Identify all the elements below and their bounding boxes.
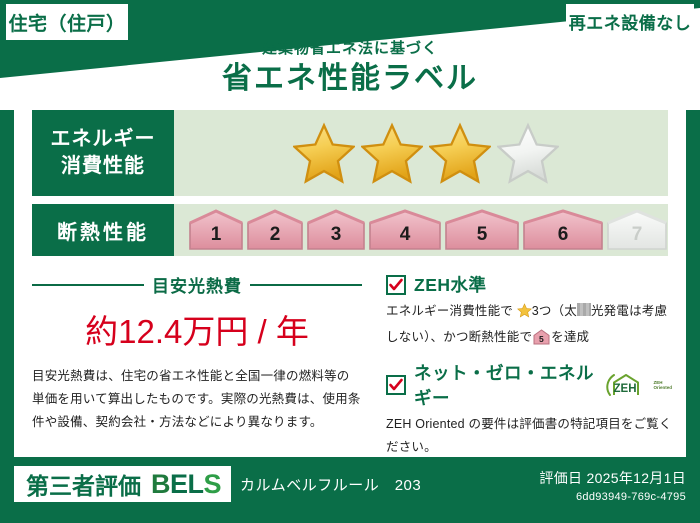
grade-badge-number: 2 bbox=[246, 224, 304, 246]
grade-badge-number: 7 bbox=[606, 224, 668, 246]
zeh-section: ZEH水準 エネルギー消費性能で 3つ（太光発電は考慮しない）、かつ断熱性能で … bbox=[386, 272, 672, 466]
zeh-logo-subtitle: ZEH Oriented bbox=[653, 380, 672, 390]
building-type-tag: 住宅（住戸） bbox=[6, 4, 128, 40]
zeh-standard-title: ZEH水準 bbox=[414, 272, 487, 297]
redacted-character bbox=[577, 303, 591, 316]
star-rating bbox=[174, 122, 668, 184]
star-filled-icon bbox=[361, 122, 423, 184]
utility-cost-value: 約12.4万円 / 年 bbox=[32, 305, 362, 353]
zeh-net-zero-body: ZEH Oriented の要件は評価書の特記項目をご覧ください。 bbox=[386, 413, 672, 458]
zeh-standard-body: エネルギー消費性能で 3つ（太光発電は考慮しない）、かつ断熱性能で 5 を達成 bbox=[386, 300, 672, 352]
grade-badge-filled: 3 bbox=[306, 209, 366, 251]
grade-badge-number: 3 bbox=[306, 224, 366, 246]
energy-performance-label: エネルギー 消費性能 bbox=[32, 110, 174, 196]
building-name: カルムベルフルール 203 bbox=[240, 474, 421, 495]
title-block: 建築物省エネ法に基づく 省エネ性能ラベル bbox=[0, 40, 700, 98]
zeh-body-text-2: 3つ（太 bbox=[532, 304, 577, 318]
checkbox-checked-icon[interactable] bbox=[386, 275, 406, 295]
rule-left bbox=[32, 284, 144, 286]
energy-performance-row: エネルギー 消費性能 bbox=[32, 110, 668, 196]
utility-cost-heading-text: 目安光熱費 bbox=[152, 272, 242, 297]
checkbox-checked-icon[interactable] bbox=[386, 375, 406, 395]
insulation-performance-row: 断熱性能 1234567 bbox=[32, 204, 668, 256]
grade-badge-empty: 7 bbox=[606, 209, 668, 251]
grade-badge-number: 6 bbox=[522, 224, 604, 246]
title-subtitle: 建築物省エネ法に基づく bbox=[0, 40, 700, 58]
grade-badge-filled: 5 bbox=[444, 209, 520, 251]
bels-logo-el: EL bbox=[170, 469, 204, 499]
page-title: 省エネ性能ラベル bbox=[0, 60, 700, 98]
zeh-net-zero-header: ネット・ゼロ・エネルギー ZEH ZEH Oriented bbox=[386, 360, 672, 410]
zeh-item-net-zero: ネット・ゼロ・エネルギー ZEH ZEH Oriented ZEH Orient… bbox=[386, 360, 672, 458]
bels-logo-b: B bbox=[151, 469, 170, 499]
utility-cost-section: 目安光熱費 約12.4万円 / 年 目安光熱費は、住宅の省エネ性能と全国一律の燃… bbox=[32, 272, 362, 434]
grade-badge-number: 5 bbox=[444, 224, 520, 246]
grade-badge-filled: 4 bbox=[368, 209, 442, 251]
star-filled-icon bbox=[429, 122, 491, 184]
zeh-house-logo-icon: ZEH bbox=[605, 373, 645, 397]
bels-logo-s: S bbox=[204, 469, 222, 499]
inline-star-icon bbox=[517, 303, 532, 326]
bels-plate: 第三者評価 BELS bbox=[14, 466, 231, 502]
zeh-body-text-1: エネルギー消費性能で bbox=[386, 304, 513, 318]
utility-cost-note: 目安光熱費は、住宅の省エネ性能と全国一律の燃料等の単価を用いて算出したものです。… bbox=[32, 365, 362, 434]
grade-badge-number: 1 bbox=[188, 224, 244, 246]
star-empty-icon bbox=[497, 122, 559, 184]
bels-logo: BELS bbox=[151, 469, 221, 500]
zeh-standard-header: ZEH水準 bbox=[386, 272, 672, 297]
third-party-evaluation-label: 第三者評価 bbox=[26, 467, 141, 501]
svg-text:5: 5 bbox=[539, 334, 544, 344]
evaluation-date: 評価日 2025年12月1日 bbox=[539, 468, 686, 488]
grade-badge-filled: 6 bbox=[522, 209, 604, 251]
grade-badge-number: 4 bbox=[368, 224, 442, 246]
zeh-body-text-4: を達成 bbox=[551, 330, 589, 344]
insulation-performance-label: 断熱性能 bbox=[32, 204, 174, 256]
star-filled-icon bbox=[293, 122, 355, 184]
utility-cost-heading: 目安光熱費 bbox=[32, 272, 362, 297]
grade-badge-filled: 2 bbox=[246, 209, 304, 251]
energy-label-line2: 消費性能 bbox=[61, 153, 145, 180]
inline-grade-badge: 5 bbox=[533, 329, 550, 353]
evaluation-info: 評価日 2025年12月1日 6dd93949-769c-4795 bbox=[539, 468, 686, 503]
label-card: エネルギー 消費性能 断熱性能 1234567 目安光熱費 約12.4万円 / … bbox=[14, 96, 686, 457]
grade-badge-filled: 1 bbox=[188, 209, 244, 251]
energy-label-line1: エネルギー bbox=[51, 126, 156, 153]
renewable-equipment-tag: 再エネ設備なし bbox=[566, 4, 694, 38]
evaluation-id: 6dd93949-769c-4795 bbox=[539, 491, 686, 503]
zeh-logo-sub-line2: Oriented bbox=[653, 385, 672, 390]
energy-label-document: 住宅（住戸） 再エネ設備なし 建築物省エネ法に基づく 省エネ性能ラベル エネルギ… bbox=[0, 0, 700, 523]
rule-right bbox=[250, 284, 362, 286]
footer-bar: 第三者評価 BELS カルムベルフルール 203 評価日 2025年12月1日 … bbox=[0, 462, 700, 523]
svg-text:ZEH: ZEH bbox=[614, 383, 637, 395]
zeh-net-zero-title: ネット・ゼロ・エネルギー bbox=[414, 360, 595, 410]
insulation-grade-scale: 1234567 bbox=[174, 209, 676, 251]
zeh-item-standard: ZEH水準 エネルギー消費性能で 3つ（太光発電は考慮しない）、かつ断熱性能で … bbox=[386, 272, 672, 352]
